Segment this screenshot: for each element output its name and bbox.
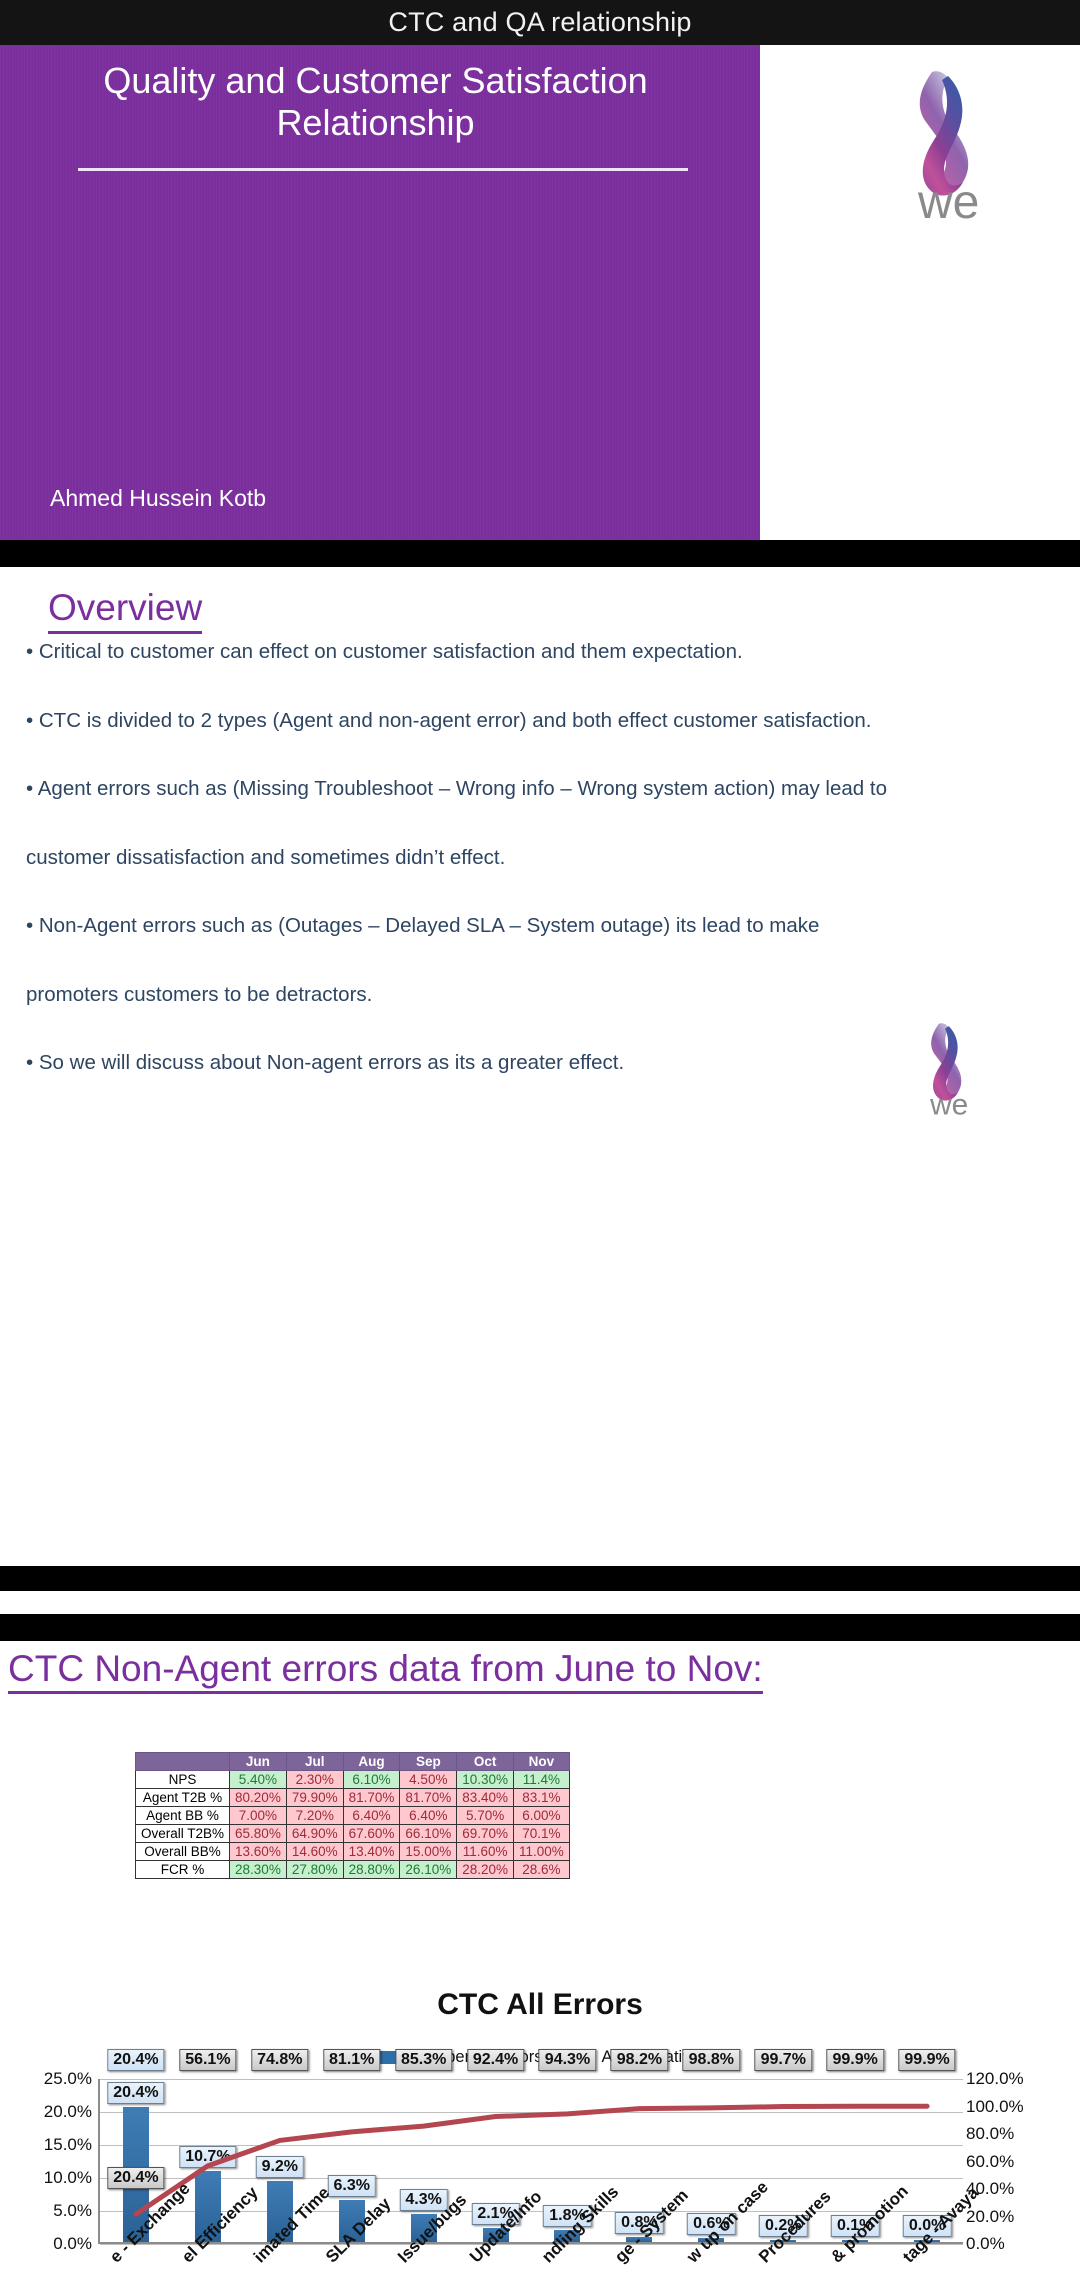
bullet-item-continuation: customer dissatisfaction and sometimes d… xyxy=(26,848,1061,869)
table-cell: 79.90% xyxy=(286,1789,343,1807)
y2-axis-tick-label: 80.0% xyxy=(966,2125,1058,2142)
table-cell: 83.1% xyxy=(514,1789,570,1807)
table-cell: 70.1% xyxy=(514,1825,570,1843)
window-title-bar: CTC and QA relationship xyxy=(0,0,1080,45)
accumulative-value-label: 99.7% xyxy=(755,2049,812,2071)
table-row: FCR %28.30%27.80%28.80%26.10%28.20%28.6% xyxy=(136,1861,570,1879)
table-cell: 64.90% xyxy=(286,1825,343,1843)
accumulative-value-label: 99.9% xyxy=(826,2049,883,2071)
slide-divider-3 xyxy=(0,1614,1080,1641)
table-cell: 6.00% xyxy=(514,1807,570,1825)
table-cell: 7.20% xyxy=(286,1807,343,1825)
bullet-item: • Agent errors such as (Missing Troubles… xyxy=(26,779,1061,800)
table-cell: 28.6% xyxy=(514,1861,570,1879)
table-cell: 28.80% xyxy=(343,1861,400,1879)
table-col-header: Nov xyxy=(514,1753,570,1771)
table-row: Overall BB%13.60%14.60%13.40%15.00%11.60… xyxy=(136,1843,570,1861)
accumulative-value-label: 81.1% xyxy=(323,2049,380,2071)
author-name: Ahmed Hussein Kotb xyxy=(50,485,266,512)
accumulative-value-label: 56.1% xyxy=(179,2049,236,2071)
table-row: Agent T2B %80.20%79.90%81.70%81.70%83.40… xyxy=(136,1789,570,1807)
table-cell: 15.00% xyxy=(400,1843,457,1861)
table-col-header: Jul xyxy=(286,1753,343,1771)
x-axis-label-cell: w up on case xyxy=(675,2251,747,2289)
table-cell: 11.00% xyxy=(514,1843,570,1861)
table-cell: 67.60% xyxy=(343,1825,400,1843)
bullet-item: • Non-Agent errors such as (Outages – De… xyxy=(26,916,1061,937)
x-axis-label-cell: imated Time xyxy=(242,2251,314,2289)
table-col-header: Aug xyxy=(343,1753,400,1771)
table-row-header: Overall BB% xyxy=(136,1843,230,1861)
table-row: NPS5.40%2.30%6.10%4.50%10.30%11.4% xyxy=(136,1771,570,1789)
y-axis-tick-label: 25.0% xyxy=(0,2070,92,2087)
slide-ctc-data: CTC Non-Agent errors data from June to N… xyxy=(0,1641,1080,2289)
slide-overview: Overview • Critical to customer can effe… xyxy=(0,567,1080,1566)
y2-axis-tick-label: 120.0% xyxy=(966,2070,1058,2087)
table-row-header: Overall T2B% xyxy=(136,1825,230,1843)
table-cell: 65.80% xyxy=(230,1825,287,1843)
table-cell: 13.40% xyxy=(343,1843,400,1861)
y-axis-tick-label: 5.0% xyxy=(0,2202,92,2219)
table-row-header: NPS xyxy=(136,1771,230,1789)
page-title: Quality and Customer Satisfaction Relati… xyxy=(48,60,703,144)
x-axis-label-cell: tage - Avaya xyxy=(891,2251,963,2289)
x-axis-label-cell: Update/Info xyxy=(458,2251,530,2289)
table-cell: 6.10% xyxy=(343,1771,400,1789)
table-cell: 11.60% xyxy=(457,1843,514,1861)
accumulative-value-label: 74.8% xyxy=(251,2049,308,2071)
table-cell: 2.30% xyxy=(286,1771,343,1789)
table-cell: 5.40% xyxy=(230,1771,287,1789)
y2-axis-tick-label: 0.0% xyxy=(966,2235,1058,2252)
table-cell: 28.30% xyxy=(230,1861,287,1879)
table-cell: 14.60% xyxy=(286,1843,343,1861)
accumulative-value-label: 85.3% xyxy=(395,2049,452,2071)
y2-axis-tick-label: 100.0% xyxy=(966,2098,1058,2115)
chart-y-axis-left: 25.0%20.0%15.0%10.0%5.0%0.0% xyxy=(0,2079,92,2244)
accumulative-value-label: 92.4% xyxy=(467,2049,524,2071)
slide-divider-1 xyxy=(0,540,1080,567)
x-axis-label-cell: Issue/bugs xyxy=(386,2251,458,2289)
x-axis-label-cell: ge - System xyxy=(603,2251,675,2289)
table-cell: 26.10% xyxy=(400,1861,457,1879)
table-cell: 5.70% xyxy=(457,1807,514,1825)
x-axis-label-cell: el Efficiency xyxy=(170,2251,242,2289)
y2-axis-tick-label: 60.0% xyxy=(966,2153,1058,2170)
chart-y-axis-right: 120.0%100.0%80.0%60.0%40.0%20.0%0.0% xyxy=(966,2079,1058,2244)
accumulative-value-label: 99.9% xyxy=(898,2049,955,2071)
table-cell: 81.70% xyxy=(343,1789,400,1807)
table-row-header: Agent T2B % xyxy=(136,1789,230,1807)
table-row: Agent BB %7.00%7.20%6.40%6.40%5.70%6.00% xyxy=(136,1807,570,1825)
table-cell: 81.70% xyxy=(400,1789,457,1807)
we-logo-wordmark: we xyxy=(917,176,979,229)
table-row-header: Agent BB % xyxy=(136,1807,230,1825)
table-cell: 7.00% xyxy=(230,1807,287,1825)
accumulative-value-label: 20.4% xyxy=(107,2049,164,2071)
table-cell: 80.20% xyxy=(230,1789,287,1807)
table-cell: 83.40% xyxy=(457,1789,514,1807)
y-axis-tick-label: 0.0% xyxy=(0,2235,92,2252)
overview-heading: Overview xyxy=(48,587,202,634)
presentation-page: CTC and QA relationship Quality and Cust… xyxy=(0,0,1080,2289)
accumulative-value-label: 98.2% xyxy=(611,2049,668,2071)
ctc-metrics-table: Jun Jul Aug Sep Oct Nov NPS5.40%2.30%6.1… xyxy=(135,1752,570,1879)
table-body: NPS5.40%2.30%6.10%4.50%10.30%11.4%Agent … xyxy=(136,1771,570,1879)
y-axis-tick-label: 20.0% xyxy=(0,2103,92,2120)
table-corner-cell xyxy=(136,1753,230,1771)
slide-divider-2 xyxy=(0,1566,1080,1591)
table-cell: 28.20% xyxy=(457,1861,514,1879)
window-title: CTC and QA relationship xyxy=(388,7,691,38)
table-row: Overall T2B%65.80%64.90%67.60%66.10%69.7… xyxy=(136,1825,570,1843)
table-cell: 69.70% xyxy=(457,1825,514,1843)
table-cell: 11.4% xyxy=(514,1771,570,1789)
table-cell: 13.60% xyxy=(230,1843,287,1861)
table-cell: 4.50% xyxy=(400,1771,457,1789)
y-axis-tick-label: 15.0% xyxy=(0,2136,92,2153)
table-header-row: Jun Jul Aug Sep Oct Nov xyxy=(136,1753,570,1771)
table-cell: 66.10% xyxy=(400,1825,457,1843)
we-logo-icon: we xyxy=(870,50,1030,230)
accumulative-value-label: 98.8% xyxy=(683,2049,740,2071)
y2-axis-tick-label: 20.0% xyxy=(966,2208,1058,2225)
table-cell: 10.30% xyxy=(457,1771,514,1789)
ctc-heading: CTC Non-Agent errors data from June to N… xyxy=(8,1648,763,1694)
we-logo-icon: we xyxy=(900,1010,1000,1122)
bullet-item-continuation: promoters customers to be detractors. xyxy=(26,985,1061,1006)
x-axis-label-cell: Procedures xyxy=(747,2251,819,2289)
table-cell: 27.80% xyxy=(286,1861,343,1879)
slide-title-page: Quality and Customer Satisfaction Relati… xyxy=(0,45,1080,540)
table-row-header: FCR % xyxy=(136,1861,230,1879)
table-cell: 6.40% xyxy=(400,1807,457,1825)
accumulative-value-label: 94.3% xyxy=(539,2049,596,2071)
we-logo-wordmark: we xyxy=(929,1089,968,1122)
chart-x-axis-labels: e - Exchangeel Efficiencyimated TimeSLA … xyxy=(98,2251,963,2289)
x-axis-label-cell: SLA Delay xyxy=(314,2251,386,2289)
bullet-item: • Critical to customer can effect on cus… xyxy=(26,642,1061,663)
x-axis-label-cell: ndling Skills xyxy=(530,2251,602,2289)
bullet-item: • CTC is divided to 2 types (Agent and n… xyxy=(26,711,1061,732)
table-col-header: Jun xyxy=(230,1753,287,1771)
y-axis-tick-label: 10.0% xyxy=(0,2169,92,2186)
table-col-header: Sep xyxy=(400,1753,457,1771)
table-cell: 6.40% xyxy=(343,1807,400,1825)
title-underline-rule xyxy=(78,168,688,171)
chart-title: CTC All Errors xyxy=(0,1988,1080,2022)
table-col-header: Oct xyxy=(457,1753,514,1771)
x-axis-label-cell: & promotion xyxy=(819,2251,891,2289)
x-axis-label-cell: e - Exchange xyxy=(98,2251,170,2289)
